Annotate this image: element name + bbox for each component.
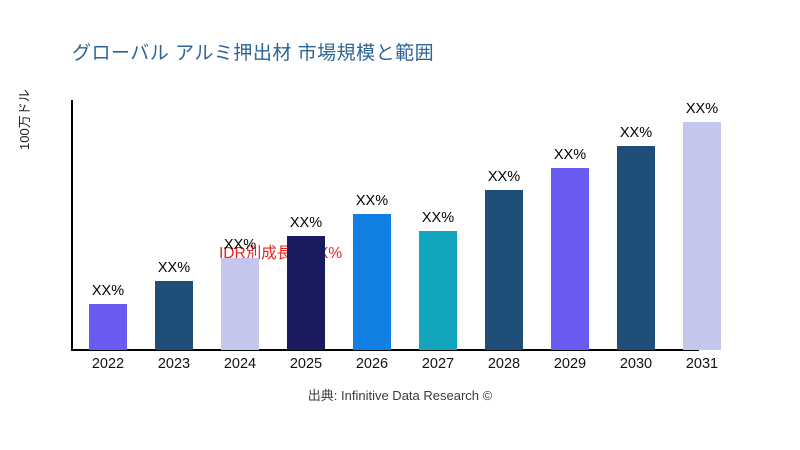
bar-group-2024: XX%2024 [221,100,259,350]
bar-group-2030: XX%2030 [617,100,655,350]
bar-group-2023: XX%2023 [155,100,193,350]
bar-value-label-2031: XX% [686,101,718,117]
bar-2024[interactable] [221,258,259,350]
bar-group-2027: XX%2027 [419,100,457,350]
bar-2028[interactable] [485,190,523,350]
x-axis-label-2027: 2027 [422,356,454,372]
bar-value-label-2028: XX% [488,169,520,185]
bar-2023[interactable] [155,281,193,350]
bar-group-2026: XX%2026 [353,100,391,350]
bar-group-2029: XX%2029 [551,100,589,350]
bar-2026[interactable] [353,214,391,350]
bar-group-2025: XX%2025 [287,100,325,350]
x-axis-label-2023: 2023 [158,356,190,372]
bar-2022[interactable] [89,304,127,350]
bar-value-label-2030: XX% [620,125,652,141]
x-axis-label-2022: 2022 [92,356,124,372]
bar-value-label-2029: XX% [554,147,586,163]
x-axis-label-2024: 2024 [224,356,256,372]
bar-group-2028: XX%2028 [485,100,523,350]
x-axis-label-2029: 2029 [554,356,586,372]
x-axis-label-2031: 2031 [686,356,718,372]
x-axis-label-2025: 2025 [290,356,322,372]
bar-2031[interactable] [683,122,721,350]
plot-area: IDR別成長率XX% XX%2022XX%2023XX%2024XX%2025X… [71,100,731,350]
bar-group-2022: XX%2022 [89,100,127,350]
x-axis-label-2028: 2028 [488,356,520,372]
market-size-bar-chart: グローバル アルミ押出材 市場規模と範囲 100万ドル IDR別成長率XX% X… [0,0,800,450]
bar-value-label-2025: XX% [290,215,322,231]
bar-value-label-2023: XX% [158,260,190,276]
x-axis-label-2026: 2026 [356,356,388,372]
bar-2029[interactable] [551,168,589,350]
bar-value-label-2024: XX% [224,237,256,253]
x-axis-label-2030: 2030 [620,356,652,372]
bar-2027[interactable] [419,231,457,350]
bar-2025[interactable] [287,236,325,350]
bar-2030[interactable] [617,146,655,350]
bar-group-2031: XX%2031 [683,100,721,350]
source-note: 出典: Infinitive Data Research © [0,385,800,404]
bar-value-label-2026: XX% [356,193,388,209]
y-axis-title: 100万ドル [14,89,33,150]
bar-value-label-2027: XX% [422,210,454,226]
bar-value-label-2022: XX% [92,283,124,299]
y-axis-line [71,100,73,350]
chart-title: グローバル アルミ押出材 市場規模と範囲 [72,38,434,65]
